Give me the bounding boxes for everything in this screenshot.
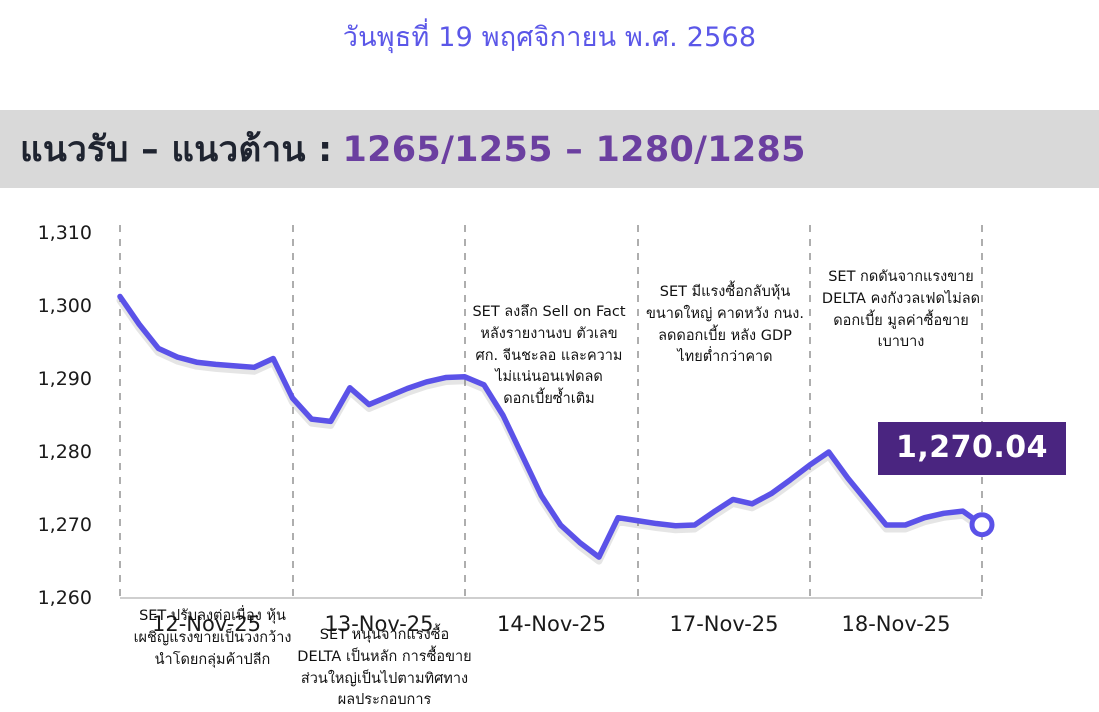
x-tick-17-Nov-25: 17-Nov-25 [638,612,810,636]
y-tick-1300: 1,300 [12,295,92,317]
y-tick-1270: 1,270 [12,514,92,536]
support-resistance-title-band: แนวรับ – แนวต้าน : 1265/1255 – 1280/1285 [0,110,1099,188]
date-text: วันพุธที่ 19 พฤศจิกายน พ.ศ. 2568 [343,15,757,58]
x-tick-14-Nov-25: 14-Nov-25 [466,612,638,636]
annotation-18nov: SET กดดันจากแรงขาย DELTA คงกังวลเฟดไม่ลด… [818,267,984,354]
title-inner: แนวรับ – แนวต้าน : 1265/1255 – 1280/1285 [0,122,806,177]
last-value-badge: 1,270.04 [878,422,1066,475]
annotation-12nov: SET ปรับลงต่อเนื่อง หุ้นเผชิญแรงขายเป็นว… [125,606,300,671]
title-values: 1265/1255 – 1280/1285 [342,130,805,170]
annotation-14nov: SET ลงลึก Sell on Fact หลังรายงานงบ ตัวเ… [471,302,627,411]
y-tick-1310: 1,310 [12,222,92,244]
annotation-17nov: SET มีแรงซื้อกลับหุ้นขนาดใหญ่ คาดหวัง กน… [645,282,805,369]
last-point-marker [972,515,992,535]
line-chart: 1,3101,3001,2901,2801,2701,260 12-Nov-25… [0,188,1099,680]
y-tick-1290: 1,290 [12,368,92,390]
title-label: แนวรับ – แนวต้าน : [20,122,332,177]
y-tick-1280: 1,280 [12,441,92,463]
x-tick-18-Nov-25: 18-Nov-25 [810,612,982,636]
annotation-13nov: SET หนุนจากแรงซื้อ DELTA เป็นหลัก การซื้… [297,625,472,712]
y-tick-1260: 1,260 [12,587,92,609]
date-header: วันพุธที่ 19 พฤศจิกายน พ.ศ. 2568 [0,0,1099,72]
